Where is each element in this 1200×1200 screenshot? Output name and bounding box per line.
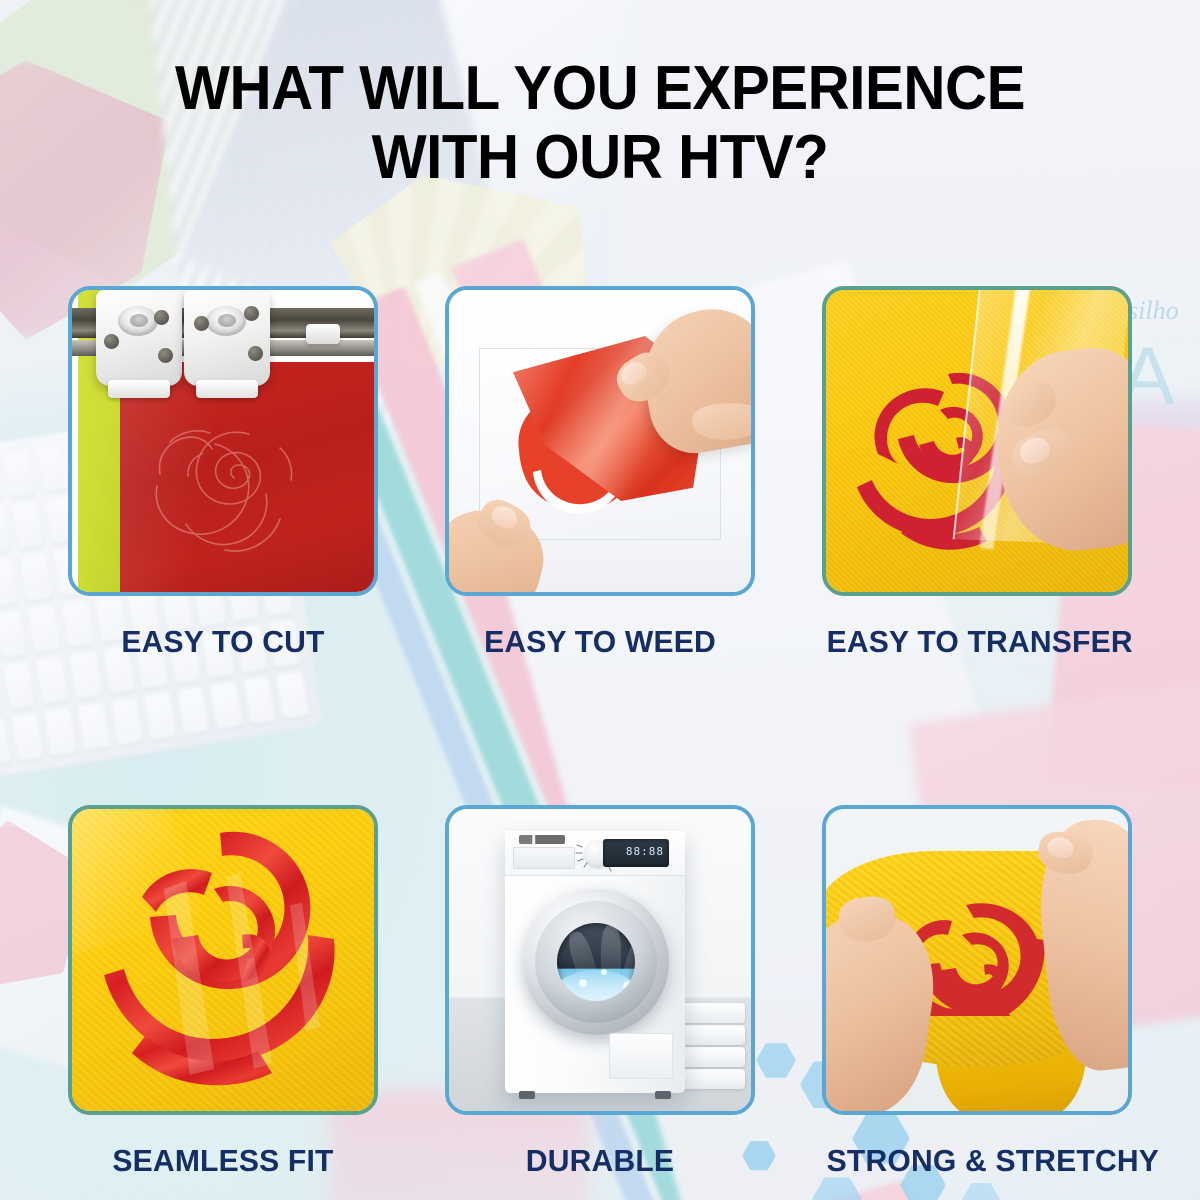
htv-feature-infographic: A M silho WHAT WILL YOU EXPERIENCE WITH … bbox=[0, 0, 1200, 1200]
carriage-blade-hole bbox=[218, 314, 236, 327]
cutter-carriage-left bbox=[96, 290, 182, 386]
finger bbox=[692, 402, 751, 440]
display-text: 88:88 bbox=[626, 845, 664, 858]
rail-stopper bbox=[306, 324, 340, 344]
carriage-screw bbox=[104, 334, 119, 349]
bubble bbox=[623, 981, 633, 991]
fabric-closeup-icon bbox=[72, 809, 374, 1111]
feature-card-strong-and-stretchy: STRONG & STRETCHY bbox=[822, 805, 1132, 1179]
door-outer-ring bbox=[523, 889, 669, 1035]
background-watermark-word: silho bbox=[1128, 296, 1179, 326]
feature-caption-seamless-fit: SEAMLESS FIT bbox=[73, 1143, 374, 1179]
carriage-screw bbox=[244, 306, 259, 321]
page-title-line-1: WHAT WILL YOU EXPERIENCE bbox=[92, 54, 1107, 123]
feature-image-easy-to-cut bbox=[68, 286, 378, 596]
page-title: WHAT WILL YOU EXPERIENCE WITH OUR HTV? bbox=[36, 54, 1164, 193]
feature-caption-strong-and-stretchy: STRONG & STRETCHY bbox=[827, 1143, 1128, 1179]
carriage-foot bbox=[196, 380, 258, 398]
machine-foot bbox=[519, 1091, 535, 1099]
rose-cut-outline-icon bbox=[130, 382, 340, 572]
background-watermark-letters: A M bbox=[1120, 330, 1200, 424]
washing-machine-body: 88:88 bbox=[505, 831, 685, 1093]
washing-machine-icon: 88:88 bbox=[449, 809, 751, 1111]
feature-image-strong-and-stretchy bbox=[822, 805, 1132, 1115]
feature-card-durable: 88:88 bbox=[445, 805, 755, 1179]
carriage-screw bbox=[248, 346, 263, 361]
carriage-screw bbox=[158, 348, 173, 363]
page-title-line-2: WITH OUR HTV? bbox=[92, 123, 1107, 192]
glossy-rose-design-icon bbox=[94, 819, 366, 1105]
door-inner-ring bbox=[535, 901, 657, 1023]
carriage-foot bbox=[108, 380, 170, 398]
feature-image-easy-to-transfer bbox=[822, 286, 1132, 596]
bubble bbox=[579, 979, 587, 987]
peel-carrier-sheet-icon bbox=[826, 290, 1128, 592]
feature-image-durable: 88:88 bbox=[445, 805, 755, 1115]
feature-caption-easy-to-cut: EASY TO CUT bbox=[73, 624, 374, 660]
feature-card-easy-to-cut: EASY TO CUT bbox=[68, 286, 378, 660]
stretch-fabric-icon bbox=[826, 809, 1128, 1111]
feature-grid: EASY TO CUT bbox=[68, 286, 1132, 1179]
cutting-machine-icon bbox=[72, 290, 374, 592]
weeding-hands-icon bbox=[449, 290, 751, 592]
feature-card-easy-to-weed: EASY TO WEED bbox=[445, 286, 755, 660]
digital-display: 88:88 bbox=[603, 839, 669, 867]
feature-image-easy-to-weed bbox=[445, 286, 755, 596]
door-glass[interactable] bbox=[557, 923, 635, 1001]
finger bbox=[837, 894, 897, 944]
detergent-drawer bbox=[513, 847, 575, 869]
feature-caption-easy-to-transfer: EASY TO TRANSFER bbox=[827, 624, 1128, 660]
carriage-blade-hole bbox=[130, 314, 148, 327]
carriage-screw bbox=[194, 316, 209, 331]
feature-image-seamless-fit bbox=[68, 805, 378, 1115]
bubble bbox=[601, 969, 607, 975]
feature-caption-durable: DURABLE bbox=[450, 1143, 751, 1179]
brand-logo bbox=[519, 835, 565, 844]
feature-caption-easy-to-weed: EASY TO WEED bbox=[450, 624, 751, 660]
feature-card-easy-to-transfer: EASY TO TRANSFER bbox=[822, 286, 1132, 660]
filter-access-door[interactable] bbox=[609, 1033, 673, 1079]
control-panel: 88:88 bbox=[505, 831, 685, 876]
carriage-screw bbox=[154, 310, 169, 325]
machine-foot bbox=[655, 1091, 671, 1099]
cutter-carriage-right bbox=[184, 290, 270, 386]
feature-card-seamless-fit: SEAMLESS FIT bbox=[68, 805, 378, 1179]
